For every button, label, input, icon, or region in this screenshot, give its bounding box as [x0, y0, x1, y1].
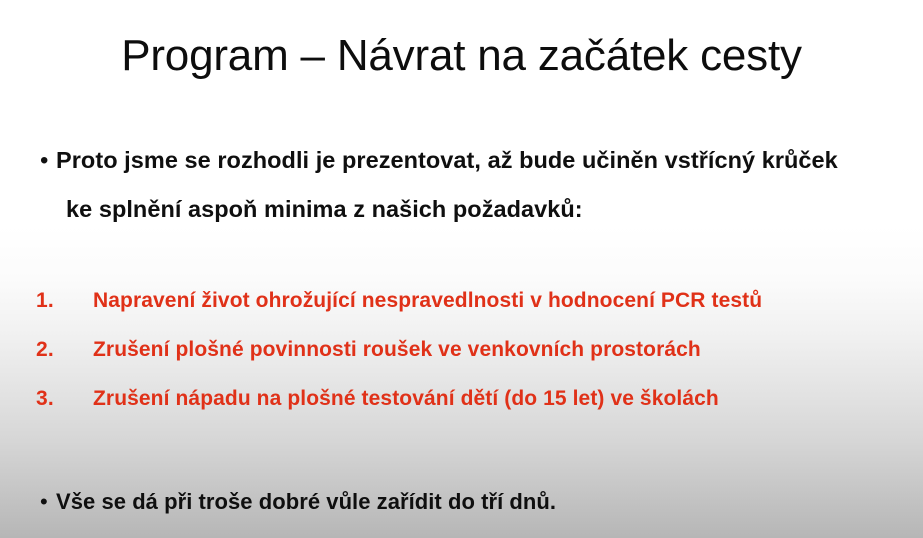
intro-bullet-block: • Proto jsme se rozhodli je prezentovat,… — [36, 136, 896, 234]
list-item: 1. Napravení život ohrožující nespravedl… — [36, 289, 906, 338]
intro-bullet-item: • Proto jsme se rozhodli je prezentovat,… — [36, 136, 896, 234]
list-item-number: 2. — [36, 338, 93, 362]
bullet-dot-icon: • — [36, 489, 56, 515]
bullet-dot-icon: • — [36, 136, 56, 185]
list-item-label: Zrušení nápadu na plošné testování dětí … — [93, 387, 906, 411]
list-item-label: Zrušení plošné povinnosti roušek ve venk… — [93, 338, 906, 362]
closing-paragraph: Vše se dá při troše dobré vůle zařídit d… — [56, 489, 896, 515]
list-item: 2. Zrušení plošné povinnosti roušek ve v… — [36, 338, 906, 387]
list-item-label: Napravení život ohrožující nespravedlnos… — [93, 289, 906, 313]
closing-bullet-item: • Vše se dá při troše dobré vůle zařídit… — [36, 489, 896, 515]
list-item-number: 1. — [36, 289, 93, 313]
slide-canvas: Program – Návrat na začátek cesty • Prot… — [0, 0, 923, 538]
list-item-number: 3. — [36, 387, 93, 411]
closing-bullet-block: • Vše se dá při troše dobré vůle zařídit… — [36, 489, 896, 515]
demands-numbered-list: 1. Napravení život ohrožující nespravedl… — [36, 289, 906, 436]
page-title: Program – Návrat na začátek cesty — [0, 31, 923, 80]
intro-paragraph: Proto jsme se rozhodli je prezentovat, a… — [56, 136, 896, 234]
intro-line-1: Proto jsme se rozhodli je prezentovat, a… — [56, 147, 838, 173]
intro-line-2: ke splnění aspoň minima z našich požadav… — [56, 185, 896, 234]
list-item: 3. Zrušení nápadu na plošné testování dě… — [36, 387, 906, 436]
